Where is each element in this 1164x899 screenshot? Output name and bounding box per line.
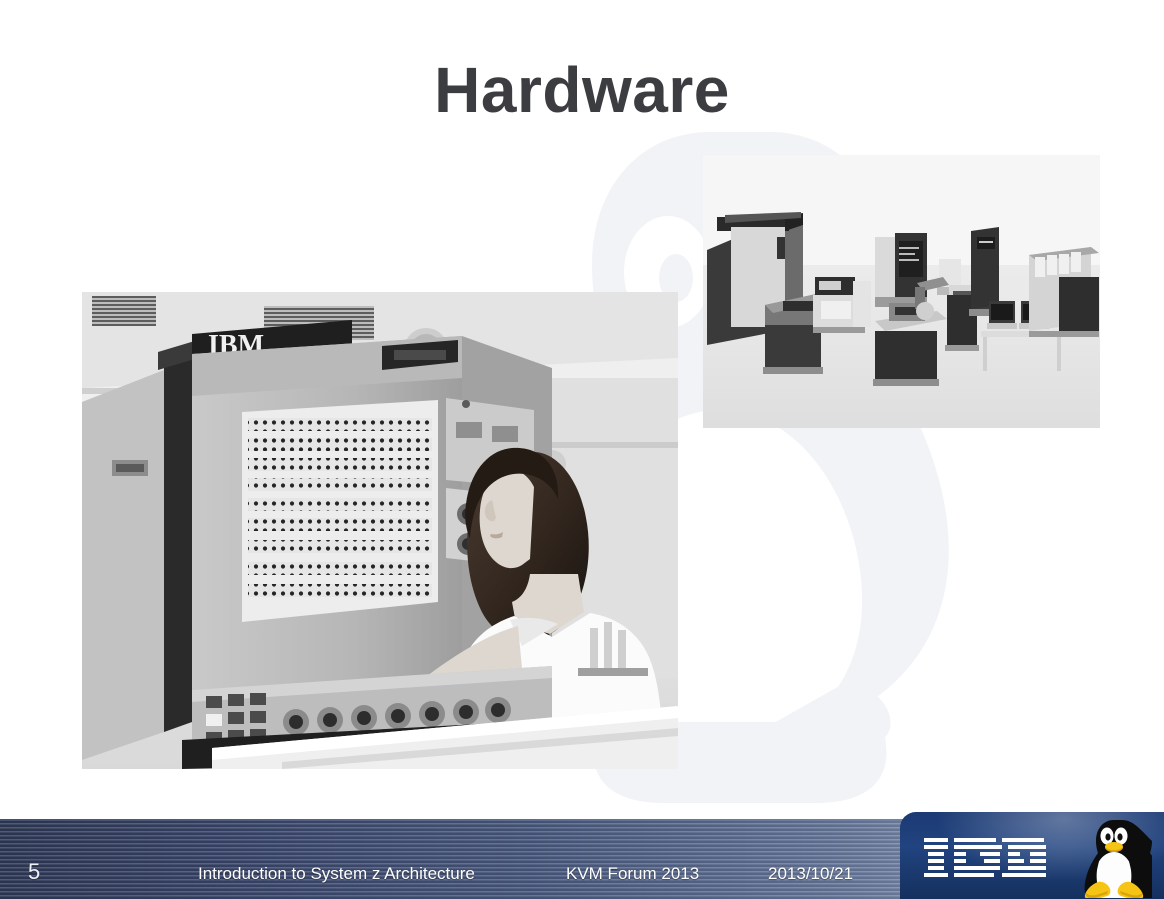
- footer-event: KVM Forum 2013: [566, 864, 699, 884]
- mainframe-room-photo: [703, 155, 1100, 428]
- slide-title: Hardware: [0, 58, 1164, 122]
- footer-subject: Introduction to System z Architecture: [198, 864, 475, 884]
- mainframe-console-photo: IBM: [82, 292, 678, 769]
- slide-number: 5: [28, 859, 40, 885]
- footer-date: 2013/10/21: [768, 864, 853, 884]
- brand-panel: [900, 812, 1164, 899]
- tux-penguin-icon: [1076, 818, 1152, 898]
- ibm-logo-icon: [922, 836, 1062, 882]
- presentation-slide: Hardware: [0, 0, 1164, 899]
